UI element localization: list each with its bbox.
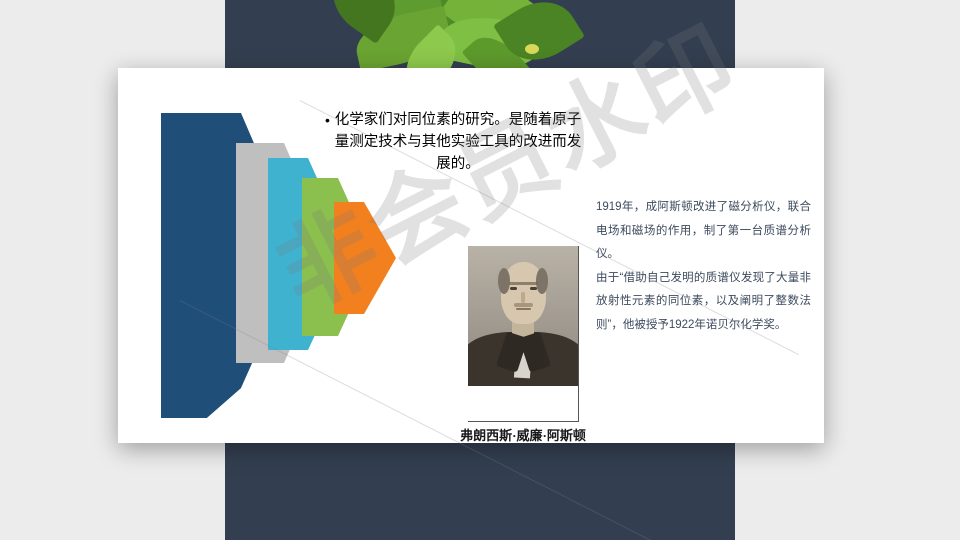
paragraph-1: 1919年，成阿斯顿改进了磁分析仪，联合电场和磁场的作用，制了第一台质谱分析仪。 bbox=[596, 196, 811, 267]
portrait-caption: 弗朗西斯·威廉·阿斯顿 bbox=[448, 425, 598, 443]
bullet-marker: • bbox=[325, 110, 330, 131]
portrait-frame-line-vertical bbox=[578, 246, 579, 421]
headline-text: • 化学家们对同位素的研究。是随着原子量测定技术与其他实验工具的改进而发展的。 bbox=[333, 110, 583, 175]
headline-label: 化学家们对同位素的研究。是随着原子量测定技术与其他实验工具的改进而发展的。 bbox=[335, 112, 582, 172]
paragraph-2: 由于“借助自己发明的质谱仪发现了大量非放射性元素的同位素，以及阐明了整数法则”，… bbox=[596, 267, 811, 338]
slide-canvas: • 化学家们对同位素的研究。是随着原子量测定技术与其他实验工具的改进而发展的。 … bbox=[0, 0, 960, 540]
portrait-frame-line-horizontal bbox=[468, 421, 579, 422]
slide-card: • 化学家们对同位素的研究。是随着原子量测定技术与其他实验工具的改进而发展的。 … bbox=[118, 68, 824, 443]
body-paragraphs: 1919年，成阿斯顿改进了磁分析仪，联合电场和磁场的作用，制了第一台质谱分析仪。… bbox=[596, 196, 811, 337]
portrait-image bbox=[468, 246, 578, 386]
